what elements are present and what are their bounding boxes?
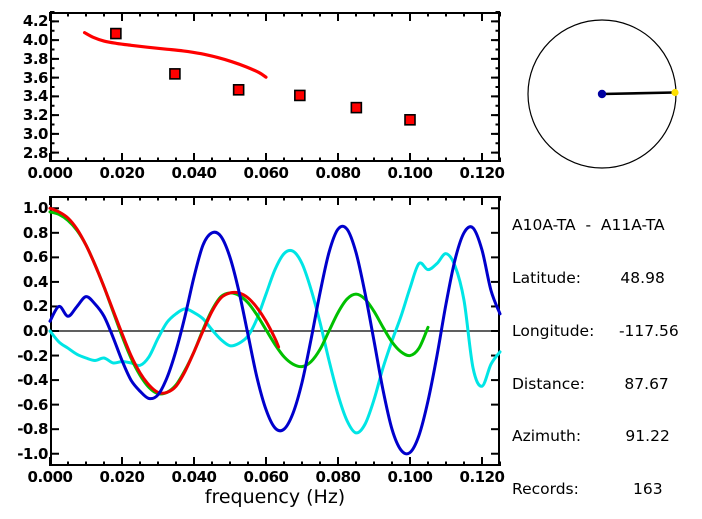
info-row-azimuth: Azimuth: 91.22 [512,428,679,446]
x-tick-label: 0.120 [448,468,516,486]
y-tick-label: 0.0 [0,322,48,340]
info-row-records: Records: 163 [512,481,679,499]
x-tick-label: 0.020 [88,468,156,486]
y-tick-label: -0.4 [0,371,48,389]
x-tick-label: 0.080 [304,164,372,182]
info-row-longitude: Longitude: -117.56 [512,323,679,341]
y-tick-label: 3.8 [0,50,48,68]
x-tick-label: 0.020 [88,164,156,182]
station-pair-title: A10A-TA - A11A-TA [512,217,679,235]
x-tick-label: 0.000 [16,164,84,182]
azimuth-map-panel [512,8,698,178]
x-tick-label: 0.040 [160,468,228,486]
y-tick-label: 4.0 [0,31,48,49]
station-info-block: A10A-TA - A11A-TA Latitude: 48.98 Longit… [512,182,679,516]
x-tick-label: 0.000 [16,468,84,486]
azimuth-map-svg [512,8,698,178]
spectra-plot-frame [50,196,500,466]
y-tick-label: -0.2 [0,347,48,365]
y-tick-label: 3.4 [0,87,48,105]
x-tick-label: 0.060 [232,468,300,486]
info-row-latitude: Latitude: 48.98 [512,270,679,288]
x-tick-label: 0.120 [448,164,516,182]
x-tick-label: 0.100 [376,468,444,486]
azimuth-ray [602,93,674,95]
y-tick-label: -0.8 [0,420,48,438]
y-tick-label: 0.2 [0,297,48,315]
y-tick-label: 3.2 [0,106,48,124]
y-tick-label: 3.0 [0,125,48,143]
x-tick-label: 0.100 [376,164,444,182]
y-tick-label: -1.0 [0,445,48,463]
x-tick-label: 0.040 [160,164,228,182]
y-tick-label: 2.8 [0,144,48,162]
center-station-marker [598,90,606,98]
x-tick-label: 0.060 [232,164,300,182]
y-tick-label: 0.8 [0,224,48,242]
paired-station-marker [671,89,678,96]
info-row-distance: Distance: 87.67 [512,376,679,394]
y-tick-label: 0.4 [0,273,48,291]
x-tick-label: 0.080 [304,468,372,486]
y-tick-label: 4.2 [0,12,48,30]
y-tick-label: -0.6 [0,396,48,414]
dispersion-plot-frame [50,12,500,162]
y-tick-label: 3.6 [0,69,48,87]
y-tick-label: 0.6 [0,248,48,266]
y-tick-label: 1.0 [0,199,48,217]
x-axis-title: frequency (Hz) [50,486,500,508]
